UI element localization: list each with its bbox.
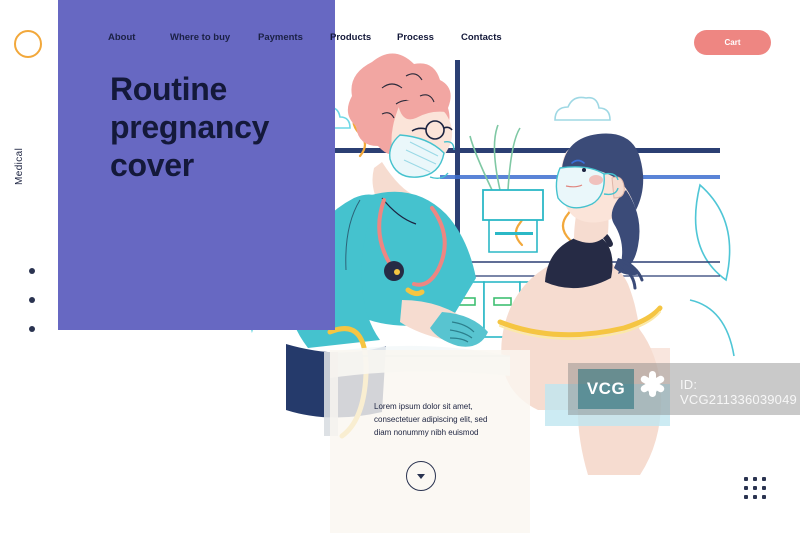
grid-dot — [744, 486, 748, 490]
slide-dot-2[interactable] — [29, 297, 35, 303]
nav-item-about[interactable]: About — [108, 32, 135, 43]
hero-overlay-card — [330, 350, 530, 533]
slide-indicator-dots[interactable] — [29, 268, 35, 355]
cart-button[interactable]: Cart — [694, 30, 771, 55]
card-body-text: Lorem ipsum dolor sit amet, consectetuer… — [374, 400, 504, 439]
nav-item-contacts[interactable]: Contacts — [461, 32, 502, 43]
slide-dot-1[interactable] — [29, 268, 35, 274]
grid-dot — [753, 486, 757, 490]
landing-page: Routine pregnancy cover Medical About Wh… — [0, 0, 800, 533]
chevron-down-icon — [417, 474, 425, 479]
nav-item-where-to-buy[interactable]: Where to buy — [170, 32, 230, 43]
grid-dot — [762, 477, 766, 481]
nav-item-payments[interactable]: Payments — [258, 32, 303, 43]
main-navigation: About Where to buy Payments Products Pro… — [0, 32, 800, 54]
grid-dot — [762, 495, 766, 499]
slide-dot-3[interactable] — [29, 326, 35, 332]
grid-dot — [744, 477, 748, 481]
grid-dots-decoration — [744, 477, 771, 504]
nav-item-products[interactable]: Products — [330, 32, 371, 43]
page-title: Routine pregnancy cover — [110, 70, 360, 184]
grid-dot — [744, 495, 748, 499]
scroll-down-button[interactable] — [406, 461, 436, 491]
category-label: Medical — [14, 125, 25, 185]
grid-dot — [762, 486, 766, 490]
nav-item-process[interactable]: Process — [397, 32, 434, 43]
grid-dot — [753, 477, 757, 481]
grid-dot — [753, 495, 757, 499]
